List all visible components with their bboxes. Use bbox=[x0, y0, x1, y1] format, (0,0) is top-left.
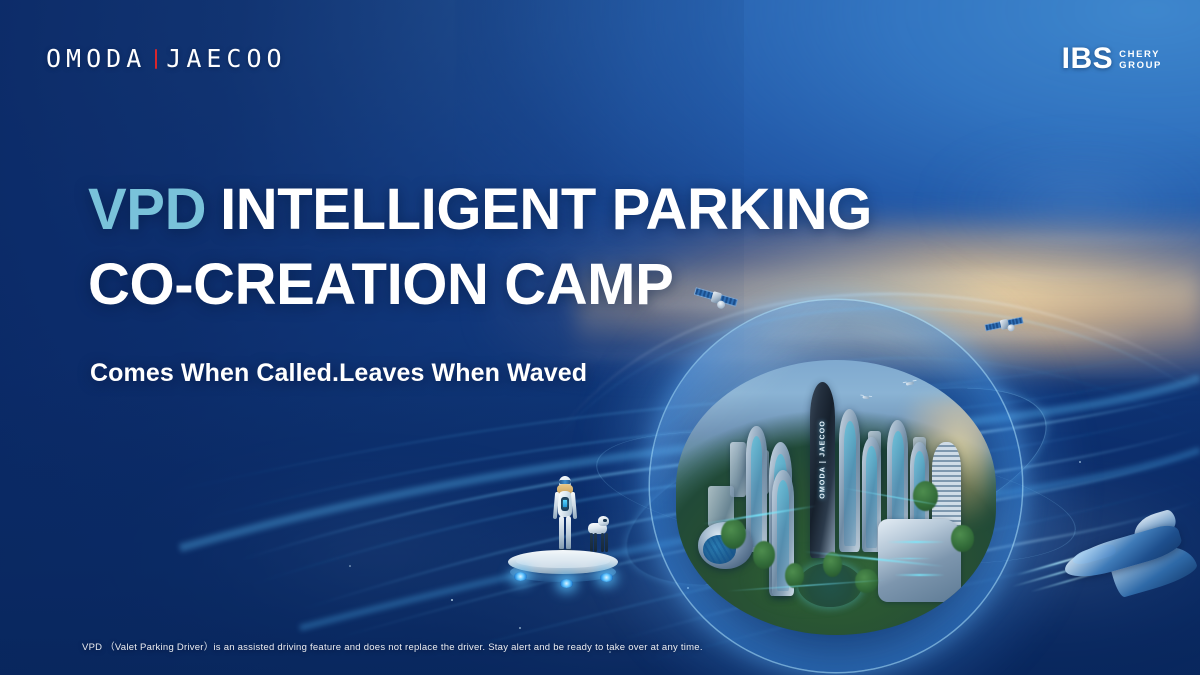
vpd-accent-word: VPD bbox=[88, 177, 206, 242]
group-line: GROUP bbox=[1119, 60, 1162, 71]
platform-deck bbox=[508, 550, 618, 574]
city-tower-branded: OMODA | JAECOO bbox=[810, 382, 834, 558]
chery-line: CHERY bbox=[1119, 49, 1162, 60]
city-ground-disc: OMODA | JAECOO bbox=[676, 360, 996, 635]
omoda-wordmark: OMODA bbox=[46, 46, 146, 71]
platform-thruster bbox=[514, 572, 527, 581]
poster-canvas: OMODA | JAECOO bbox=[0, 0, 1200, 675]
platform-thruster bbox=[600, 573, 613, 582]
headline-line-1: VPDINTELLIGENT PARKING bbox=[88, 180, 872, 240]
robot-chest-core bbox=[561, 497, 569, 511]
omoda-jaecoo-logo[interactable]: OMODA JAECOO bbox=[46, 46, 287, 71]
jaecoo-wordmark: JAECOO bbox=[166, 46, 286, 71]
robot-dog-leg bbox=[590, 533, 593, 552]
logo-separator bbox=[155, 49, 157, 69]
robot-dog-eye bbox=[603, 519, 607, 522]
building-light-strip bbox=[894, 574, 945, 575]
tree-cluster bbox=[913, 481, 939, 511]
building-light-strip bbox=[887, 541, 945, 543]
legal-disclaimer: VPD （Valet Parking Driver）is an assisted… bbox=[82, 639, 703, 653]
tower-glass bbox=[844, 421, 856, 547]
subtitle: Comes When Called.Leaves When Waved bbox=[90, 359, 587, 388]
tower-brand-label: OMODA | JAECOO bbox=[819, 420, 826, 499]
robot-dog-leg bbox=[594, 533, 597, 552]
tree-cluster bbox=[951, 525, 973, 553]
ibs-chery-group-logo[interactable]: IBS CHERY GROUP bbox=[1062, 44, 1162, 74]
robot-arm-right bbox=[571, 492, 577, 519]
humanoid-robot bbox=[552, 476, 578, 554]
robot-leg-left bbox=[559, 516, 564, 550]
platform-thruster bbox=[560, 579, 573, 588]
robot-dog-leg bbox=[605, 533, 608, 552]
tower-glass bbox=[866, 446, 877, 548]
robot-leg-right bbox=[566, 516, 571, 550]
headline-line-1-rest: INTELLIGENT PARKING bbox=[220, 177, 872, 242]
city-tower bbox=[839, 409, 860, 552]
robot-dog bbox=[584, 514, 610, 554]
chery-group-wordmark: CHERY GROUP bbox=[1119, 49, 1162, 74]
tower-glass bbox=[751, 436, 762, 547]
headline-line-2: CO-CREATION CAMP bbox=[88, 255, 872, 315]
hover-platform bbox=[508, 548, 618, 588]
page-title: VPDINTELLIGENT PARKING CO-CREATION CAMP bbox=[88, 180, 872, 314]
ibs-wordmark: IBS bbox=[1062, 44, 1114, 74]
city-sphere: OMODA | JAECOO bbox=[650, 300, 1022, 672]
glass-dome: OMODA | JAECOO bbox=[650, 300, 1022, 672]
robot-dog-leg bbox=[601, 533, 604, 552]
tree-cluster bbox=[753, 541, 775, 569]
tree-cluster bbox=[785, 563, 804, 588]
building-light-strip bbox=[887, 558, 932, 559]
